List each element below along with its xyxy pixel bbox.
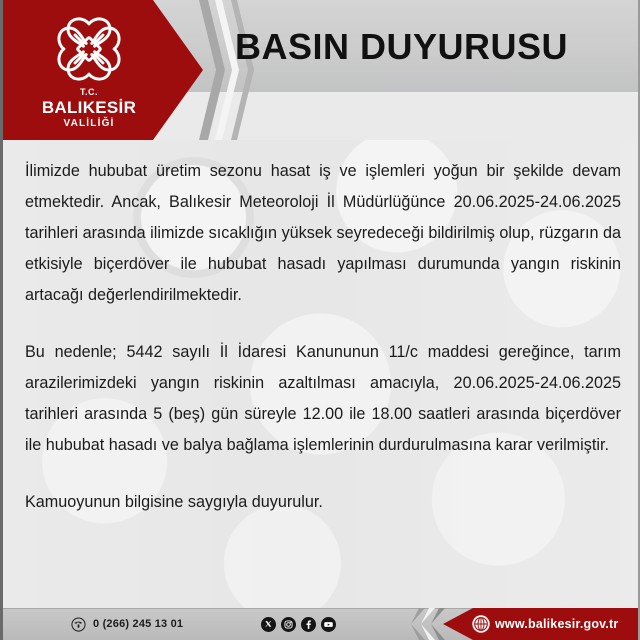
logo-city-label: BALIKESİR bbox=[29, 98, 149, 118]
telephone-icon bbox=[71, 617, 86, 632]
logo-tc-label: T.C. bbox=[29, 88, 149, 98]
youtube-icon[interactable] bbox=[321, 617, 336, 632]
instagram-icon[interactable] bbox=[281, 617, 296, 632]
paragraph-2: Bu nedenle; 5442 sayılı İl İdaresi Kanun… bbox=[25, 337, 621, 461]
poster-footer: 0 (266) 245 13 01 bbox=[3, 608, 640, 640]
balikesir-governorship-logo: T.C. BALIKESİR VALİLİĞİ bbox=[29, 14, 149, 130]
footer-social-links bbox=[261, 608, 336, 640]
globe-emblem-icon bbox=[471, 614, 491, 634]
poster-header: T.C. BALIKESİR VALİLİĞİ BASIN DUYURUSU bbox=[3, 0, 640, 140]
x-twitter-icon[interactable] bbox=[261, 617, 276, 632]
logo-governorship-label: VALİLİĞİ bbox=[29, 117, 149, 130]
footer-phone-number: 0 (266) 245 13 01 bbox=[93, 618, 183, 630]
footer-website-url[interactable]: www.balikesir.gov.tr bbox=[495, 617, 618, 631]
paragraph-1: İlimizde hububat üretim sezonu hasat iş … bbox=[25, 156, 621, 311]
page-title: BASIN DUYURUSU bbox=[235, 18, 635, 76]
balikesir-knot-emblem-icon bbox=[54, 14, 124, 84]
announcement-body: İlimizde hububat üretim sezonu hasat iş … bbox=[3, 140, 640, 608]
facebook-icon[interactable] bbox=[301, 617, 316, 632]
footer-phone: 0 (266) 245 13 01 bbox=[71, 608, 183, 640]
press-release-poster: T.C. BALIKESİR VALİLİĞİ BASIN DUYURUSU İ… bbox=[0, 0, 640, 640]
paragraph-closing: Kamuoyunun bilgisine saygıyla duyurulur. bbox=[25, 487, 621, 518]
footer-chevron-stripe-1 bbox=[431, 608, 445, 640]
footer-website-panel[interactable]: www.balikesir.gov.tr bbox=[443, 608, 640, 640]
